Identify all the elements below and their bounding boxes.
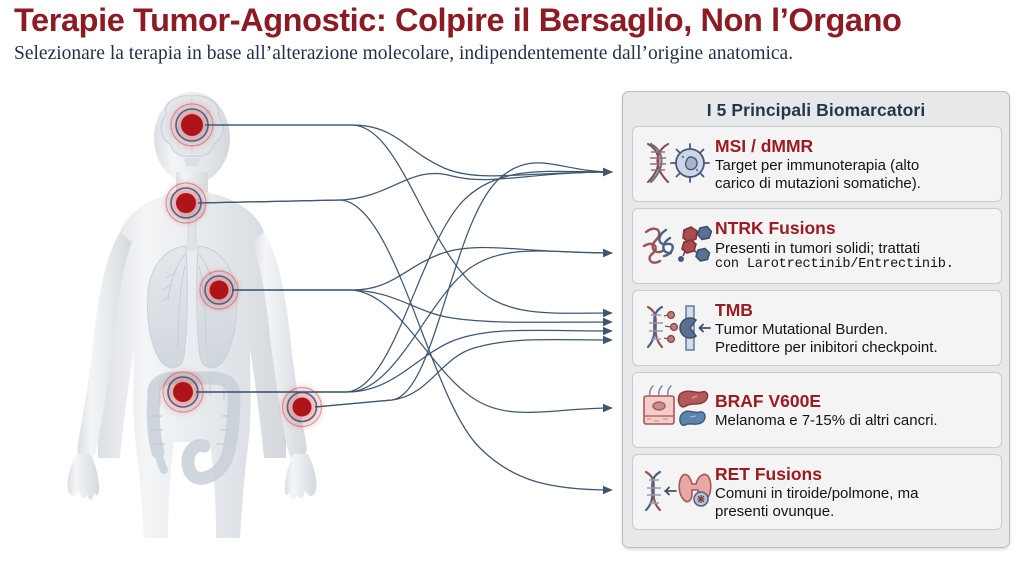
mutation-dots: [664, 312, 677, 343]
card-title: MSI / dMMR: [715, 136, 993, 156]
thyroid-tumor-marker: [158, 175, 214, 231]
card-text: RET Fusions Comuni in tiroide/polmone, m…: [713, 464, 993, 521]
thyroid-gland: [679, 474, 711, 506]
card-desc-line1: Comuni in tiroide/polmone, ma: [715, 485, 993, 503]
lung-tumor-marker: [192, 263, 246, 317]
immune-cell: [671, 144, 709, 182]
header: Terapie Tumor-Agnostic: Colpire il Bersa…: [14, 2, 1010, 66]
biomarkers-panel: I 5 Principali Biomarcatori: [622, 91, 1010, 548]
fusion-loops-molecule-icon: [639, 217, 713, 275]
card-desc-line2: presenti ovunque.: [715, 503, 993, 521]
biomarker-card-ntrk-fusions[interactable]: NTRK Fusions Presenti in tumori solidi; …: [632, 208, 1002, 284]
biomarker-card-braf-v600e[interactable]: BRAF V600E Melanoma e 7-15% di altri can…: [632, 372, 1002, 448]
card-desc-line1: Melanoma e 7-15% di altri cancri.: [715, 412, 993, 430]
skin-protein-icon: [639, 381, 713, 439]
skin-tumor-marker: [274, 379, 330, 435]
biomarker-card-tmb[interactable]: TMB Tumor Mutational Burden. Predittore …: [632, 290, 1002, 366]
card-text: NTRK Fusions Presenti in tumori solidi; …: [713, 218, 993, 273]
molecule: [678, 227, 712, 263]
human-body-diagram: [36, 86, 386, 556]
card-title: TMB: [715, 300, 993, 320]
biomarker-card-msi-dmmr[interactable]: MSI / dMMR Target per immunoterapia (alt…: [632, 126, 1002, 202]
card-desc-line1: Tumor Mutational Burden.: [715, 321, 993, 339]
infographic-root: Terapie Tumor-Agnostic: Colpire il Bersa…: [0, 0, 1024, 561]
colon-tumor-marker: [154, 363, 212, 421]
card-text: TMB Tumor Mutational Burden. Predittore …: [713, 300, 993, 357]
protein-blobs: [678, 391, 707, 425]
page-title: Terapie Tumor-Agnostic: Colpire il Bersa…: [14, 2, 1010, 38]
card-title: RET Fusions: [715, 464, 993, 484]
card-desc-line1: Presenti in tumori solidi; trattati: [715, 240, 993, 258]
dna-thyroid-icon: [639, 463, 713, 521]
dna-immune-cell-icon: [639, 135, 713, 193]
card-desc-line2: con Larotrectinib/Entrectinib.: [715, 257, 993, 273]
card-text: MSI / dMMR Target per immunoterapia (alt…: [713, 136, 993, 193]
card-text: BRAF V600E Melanoma e 7-15% di altri can…: [713, 391, 993, 430]
card-title: BRAF V600E: [715, 391, 993, 411]
skin-cross-section: [644, 386, 674, 424]
page-subtitle: Selezionare la terapia in base all’alter…: [14, 42, 1010, 65]
card-title: NTRK Fusions: [715, 218, 993, 238]
receptor-membrane: [680, 306, 710, 350]
biomarker-card-ret-fusions[interactable]: RET Fusions Comuni in tiroide/polmone, m…: [632, 454, 1002, 530]
panel-title: I 5 Principali Biomarcatori: [623, 92, 1009, 121]
card-desc-line2: carico di mutazioni somatiche).: [715, 175, 993, 193]
biomarker-card-list: MSI / dMMR Target per immunoterapia (alt…: [632, 126, 1002, 530]
dna-mutations-receptor-icon: [639, 299, 713, 357]
brain-tumor-marker: [162, 95, 222, 155]
card-desc-line2: Predittore per inibitori checkpoint.: [715, 339, 993, 357]
card-desc-line1: Target per immunoterapia (alto: [715, 157, 993, 175]
